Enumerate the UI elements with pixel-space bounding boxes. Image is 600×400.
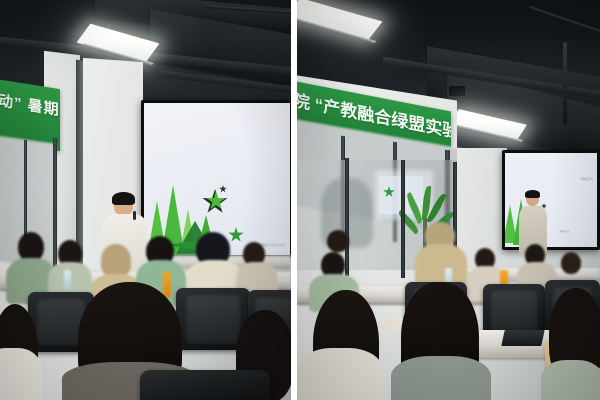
presenter-hair [112,192,135,205]
ceiling-vent [449,86,465,96]
juice-bottle [163,272,171,298]
microphone [133,211,136,220]
r-head-1b [327,230,349,252]
chair-front [140,370,270,400]
body-front-left [0,348,42,400]
r-body-front-1 [297,348,383,400]
slide-star-small [219,185,227,193]
left-photo: 动” 暑期实训 绿盟网络空间安全学院 [0,0,291,400]
r-slide-corner-text: 网络空间 [581,177,593,181]
photo-collage: 动” 暑期实训 绿盟网络空间安全学院 [0,0,600,400]
r-body-front-3 [541,360,600,400]
right-pipe-vert [563,42,567,124]
r-slide-corner-text-2: 网络空间 [559,229,569,233]
right-photo: 院 “产教融合绿盟实验班” 暑期实训 [297,0,600,400]
r-body-front-2 [391,356,491,400]
r-head-4 [561,252,581,274]
water-bottle [64,270,71,292]
right-projection-frame: 网络空间 网络空间 [502,150,600,250]
r-presenter-hair [525,190,540,198]
r-audience-front [297,308,600,400]
head-3-blonde [101,244,131,278]
